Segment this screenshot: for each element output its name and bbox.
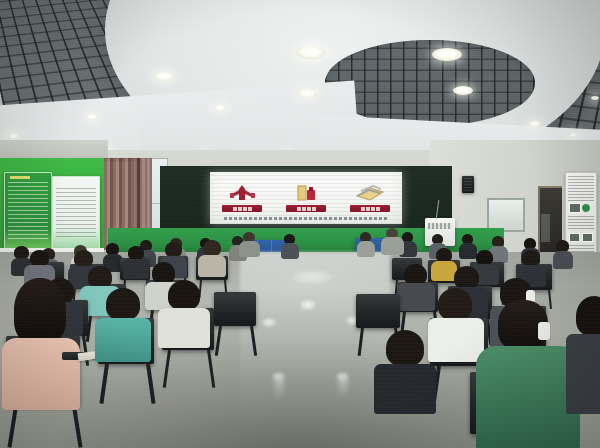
label-glyph xyxy=(361,207,365,211)
slide-item xyxy=(343,183,397,212)
envelope-papers-icon xyxy=(353,183,387,203)
slide-label-bar xyxy=(350,205,390,212)
downlight xyxy=(296,46,326,59)
label-glyph xyxy=(371,207,375,211)
board-title-bar xyxy=(10,176,30,179)
label-glyph xyxy=(297,207,301,211)
board-text-lines xyxy=(56,185,96,237)
poster-photo xyxy=(582,233,593,242)
wall-control-panel xyxy=(487,198,525,232)
label-glyph xyxy=(302,207,306,211)
downlight xyxy=(453,86,473,95)
cup-bottle-icon xyxy=(291,183,321,203)
downlight xyxy=(569,133,577,137)
slide-footer-text xyxy=(224,217,388,220)
face-mask-icon xyxy=(538,322,550,340)
slide-content xyxy=(210,183,402,212)
green-info-board xyxy=(4,172,52,252)
slide-label-bar xyxy=(222,205,262,212)
label-glyph xyxy=(307,207,311,211)
downlight xyxy=(297,89,317,98)
board-text-lines xyxy=(8,181,48,239)
label-glyph xyxy=(238,207,242,211)
poster-text-lines xyxy=(568,215,594,229)
downlight xyxy=(8,133,20,139)
label-glyph xyxy=(248,207,252,211)
downlight xyxy=(154,72,174,81)
left-wall-upper-trim xyxy=(0,140,108,158)
downlight xyxy=(591,96,599,100)
gift-figure-icon xyxy=(227,183,257,203)
downlight xyxy=(86,114,98,120)
wall-speaker-right xyxy=(462,176,474,193)
poster-photo xyxy=(569,203,581,213)
doorway-light xyxy=(541,214,550,242)
slide-label-bar xyxy=(286,205,326,212)
lectern-panel xyxy=(428,223,452,229)
projection-screen xyxy=(210,172,402,224)
label-glyph xyxy=(366,207,370,211)
slide-item xyxy=(279,183,333,212)
label-glyph xyxy=(312,207,316,211)
poster-photo xyxy=(569,233,580,242)
slide-item xyxy=(215,183,269,212)
white-info-board xyxy=(52,176,100,250)
label-glyph xyxy=(233,207,237,211)
downlight xyxy=(529,121,541,127)
label-glyph xyxy=(376,207,380,211)
poster-badge-icon xyxy=(582,204,590,212)
speaker-grill xyxy=(464,178,472,191)
poster-text-lines xyxy=(568,175,594,201)
downlight xyxy=(214,105,226,111)
label-glyph xyxy=(243,207,247,211)
downlight xyxy=(432,48,462,61)
lecture-hall-photo xyxy=(0,0,600,448)
